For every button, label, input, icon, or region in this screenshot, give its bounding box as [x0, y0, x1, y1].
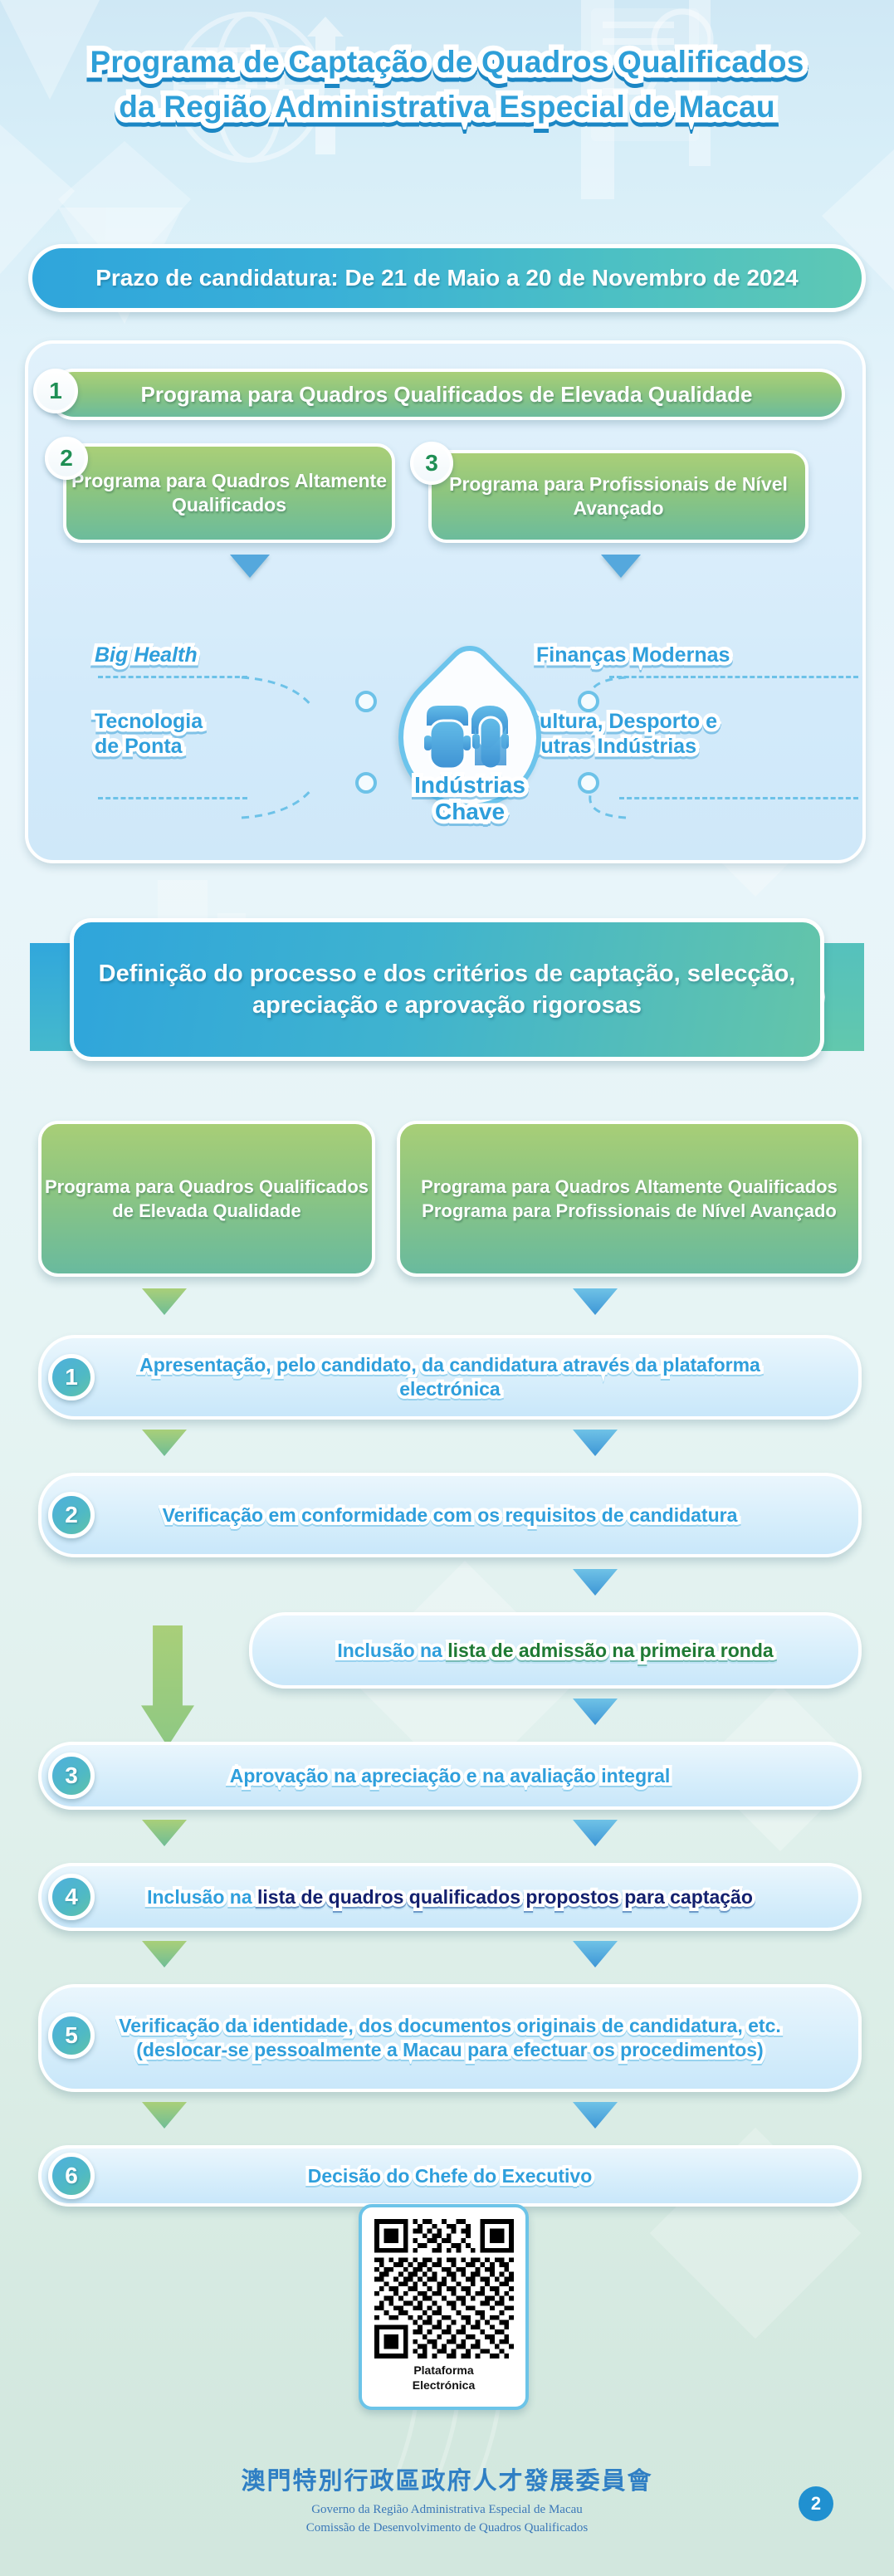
qr-code-icon	[374, 2219, 514, 2358]
application-deadline-text: Prazo de candidatura: De 21 de Maio a 20…	[95, 265, 799, 291]
program-label-3: Programa para Profissionais de Nível Ava…	[432, 472, 805, 521]
step-text-1: Apresentação, pelo candidato, da candida…	[42, 1353, 858, 1401]
connector-dash-bottom-left	[98, 797, 247, 799]
admission-highlight: lista de admissão na primeira ronda	[447, 1640, 773, 1661]
industry-label-advanced-technology: Tecnologiade Ponta	[95, 709, 203, 759]
title-line-2: da Região Administrativa Especial de Mac…	[119, 85, 774, 130]
down-arrow-icon-left-4	[142, 1820, 187, 1846]
program-label-1: Programa para Quadros Qualificados de El…	[141, 381, 753, 408]
flow-head-right[interactable]: Programa para Quadros Altamente Qualific…	[397, 1121, 862, 1277]
qr-caption-line-2: Electrónica	[413, 2378, 475, 2393]
process-definition-ribbon: Definição do processo e dos critérios de…	[30, 905, 864, 1071]
step-row-5[interactable]: Verificação da identidade, dos documento…	[38, 1984, 862, 2092]
connector-curve-bottom-left	[240, 782, 364, 824]
down-arrow-icon-right-5	[573, 1820, 618, 1846]
bypass-arrow-icon	[141, 1625, 194, 1747]
industry-label-big-health: Big Health	[95, 643, 198, 667]
footer: 澳門特別行政區政府人才發展委員會 Governo da Região Admin…	[0, 2461, 894, 2538]
industry-label-modern-finance: Finanças Modernas	[536, 643, 730, 667]
step-number-badge-5: 5	[48, 2012, 95, 2059]
step-row-6[interactable]: Decisão do Chefe do Executivo	[38, 2145, 862, 2207]
qr-caption: Plataforma Electrónica	[413, 2363, 475, 2393]
down-arrow-icon-left-6	[142, 2102, 187, 2129]
connector-dash-top-left	[98, 676, 247, 678]
down-arrow-icon-left-2	[142, 1430, 187, 1456]
step-number-badge-3: 3	[48, 1752, 95, 1799]
connector-curve-top-left	[240, 672, 364, 713]
connector-dot-bottom-right	[578, 772, 599, 794]
connector-dot-top-left	[355, 691, 377, 712]
qr-caption-line-1: Plataforma	[413, 2363, 475, 2378]
footer-chinese-name: 澳門特別行政區政府人才發展委員會	[0, 2461, 894, 2496]
connector-dash-bottom-right	[619, 797, 858, 799]
step-row-1[interactable]: Apresentação, pelo candidato, da candida…	[38, 1335, 862, 1420]
key-industries-label: IndústriasChave	[387, 772, 553, 825]
step-number-badge-6: 6	[48, 2153, 95, 2199]
step-number-badge-1: 1	[48, 1354, 95, 1400]
step-text-5: Verificação da identidade, dos documento…	[42, 2014, 858, 2062]
program-number-badge-1: 1	[33, 369, 78, 413]
down-arrow-icon-right-3	[573, 1569, 618, 1596]
step-text-2: Verificação em conformidade com os requi…	[105, 1503, 796, 1528]
page-number-badge: 2	[799, 2486, 833, 2521]
step-text-3: Aprovação na apreciação e na avaliação i…	[172, 1764, 729, 1788]
step-row-3[interactable]: Aprovação na apreciação e na avaliação i…	[38, 1742, 862, 1810]
ribbon-text: Definição do processo e dos critérios de…	[74, 958, 820, 1022]
step-text-admission-list: Inclusão na lista de admissão na primeir…	[320, 1639, 789, 1663]
qr-code-card[interactable]: Plataforma Electrónica	[359, 2204, 529, 2410]
program-label-2: Programa para Quadros Altamente Qualific…	[66, 469, 392, 517]
down-arrow-icon-left-1	[142, 1288, 187, 1315]
down-arrow-icon-right-1	[573, 1288, 618, 1315]
program-box-3[interactable]: Programa para Profissionais de Nível Ava…	[428, 450, 809, 543]
key-industries-emblem: IndústriasChave	[387, 666, 553, 848]
step-row-admission-list[interactable]: Inclusão na lista de admissão na primeir…	[249, 1612, 862, 1689]
admission-plain: Inclusão na	[337, 1640, 447, 1661]
down-arrow-icon-right-7	[573, 2102, 618, 2129]
ribbon-tail-right	[818, 943, 864, 1051]
program-box-2[interactable]: Programa para Quadros Altamente Qualific…	[63, 443, 395, 543]
two-people-icon	[420, 702, 520, 780]
step-number-badge-4: 4	[48, 1874, 95, 1920]
application-deadline-banner: Prazo de candidatura: De 21 de Maio a 20…	[28, 244, 866, 312]
down-arrow-icon-right-2	[573, 1430, 618, 1456]
connector-dash-top-right	[609, 676, 858, 678]
infographic-page: Programa de Captação de Quadros Qualific…	[0, 0, 894, 2576]
flow-head-left[interactable]: Programa para Quadros Qualificados de El…	[38, 1121, 375, 1277]
step-row-4[interactable]: Inclusão na lista de quadros qualificado…	[38, 1863, 862, 1931]
program-number-badge-3: 3	[410, 442, 453, 485]
down-arrow-icon-program2	[230, 555, 270, 578]
down-arrow-icon-right-6	[573, 1941, 618, 1967]
flow-head-right-label: Programa para Quadros Altamente Qualific…	[400, 1175, 858, 1223]
footer-portuguese-line-1: Governo da Região Administrativa Especia…	[0, 2501, 894, 2520]
step-number-badge-2: 2	[48, 1492, 95, 1538]
step-text-4: Inclusão na lista de quadros qualificado…	[94, 1885, 806, 1909]
down-arrow-icon-program3	[601, 555, 641, 578]
program-number-badge-2: 2	[45, 437, 88, 480]
down-arrow-icon-right-4	[573, 1699, 618, 1725]
flow-head-left-label: Programa para Quadros Qualificados de El…	[42, 1175, 372, 1223]
connector-dot-top-right	[578, 691, 599, 712]
programs-panel: Programa para Quadros Qualificados de El…	[25, 340, 866, 863]
connector-dot-bottom-left	[355, 772, 377, 794]
down-arrow-icon-left-5	[142, 1941, 187, 1967]
proposal-plain: Inclusão na	[147, 1886, 257, 1908]
step-row-2[interactable]: Verificação em conformidade com os requi…	[38, 1473, 862, 1557]
program-box-1[interactable]: Programa para Quadros Qualificados de El…	[48, 369, 845, 420]
title-line-1: Programa de Captação de Quadros Qualific…	[90, 40, 804, 85]
proposal-highlight: lista de quadros qualificados propostos …	[257, 1886, 753, 1908]
industry-label-culture-sports: Cultura, Desporto eOutras Indústrias	[525, 709, 717, 759]
footer-portuguese-line-2: Comissão de Desenvolvimento de Quadros Q…	[0, 2520, 894, 2538]
step-text-6: Decisão do Chefe do Executivo	[250, 2164, 651, 2188]
page-title: Programa de Captação de Quadros Qualific…	[0, 40, 894, 129]
ribbon-body: Definição do processo e dos critérios de…	[70, 918, 824, 1061]
